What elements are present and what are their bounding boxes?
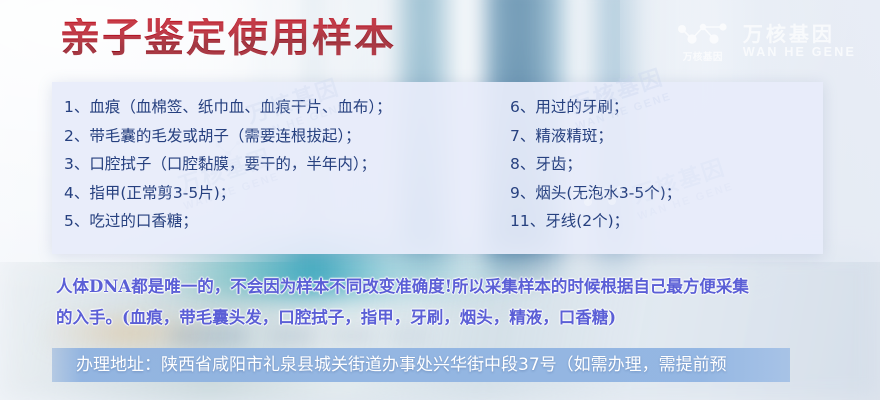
- sample-list-left-column: 1、血痕（血棉签、纸巾血、血痕干片、血布）； 2、带毛囊的毛发或胡子（需要连根拔…: [52, 96, 496, 254]
- brand-mark: 万核基因: [675, 20, 731, 63]
- brand-text: 万核基因 WAN HE GENE: [743, 23, 856, 60]
- address-bar: 办理地址：陕西省咸阳市礼泉县城关街道办事处兴华街中段37号（如需办理，需提前预: [0, 348, 880, 388]
- list-item: 2、带毛囊的毛发或胡子（需要连根拔起）；: [64, 125, 496, 149]
- list-item: 4、指甲(正常剪3-5片)；: [64, 182, 496, 206]
- page-title: 亲子鉴定使用样本: [60, 18, 396, 58]
- brand-name-cn: 万核基因: [743, 23, 835, 45]
- dna-note-line-2: 的入手。(血痕，带毛囊头发，口腔拭子，指甲，牙刷，烟头，精液，口香糖): [56, 303, 856, 334]
- sample-list-inner: 1、血痕（血棉签、纸巾血、血痕干片、血布）； 2、带毛囊的毛发或胡子（需要连根拔…: [52, 82, 823, 254]
- list-item: 9、烟头(无泡水3-5个)；: [510, 182, 823, 206]
- sample-list-panel: 1、血痕（血棉签、纸巾血、血痕干片、血布）； 2、带毛囊的毛发或胡子（需要连根拔…: [52, 82, 823, 254]
- brand-logo: 万核基因 万核基因 WAN HE GENE: [675, 20, 856, 63]
- list-item: 8、牙齿；: [510, 153, 823, 177]
- list-item: 3、口腔拭子（口腔黏膜，要干的，半年内）；: [64, 153, 496, 177]
- molecule-network-icon: [675, 20, 731, 46]
- list-item: 7、精液精斑；: [510, 125, 823, 149]
- parentage-test-sample-poster: 亲子鉴定使用样本: [0, 0, 880, 400]
- list-item: 6、用过的牙刷；: [510, 96, 823, 120]
- sample-list-right-column: 6、用过的牙刷； 7、精液精斑； 8、牙齿； 9、烟头(无泡水3-5个)； 11…: [496, 96, 823, 254]
- dna-note: 人体DNA都是唯一的，不会因为样本不同改变准确度!所以采集样本的时候根据自己最方…: [56, 272, 856, 333]
- list-item: 1、血痕（血棉签、纸巾血、血痕干片、血布）；: [64, 96, 496, 120]
- dna-note-line-1: 人体DNA都是唯一的，不会因为样本不同改变准确度!所以采集样本的时候根据自己最方…: [56, 272, 856, 303]
- list-item: 11、牙线(2个)；: [510, 210, 823, 234]
- brand-name-en: WAN HE GENE: [743, 46, 856, 60]
- address-text: 办理地址：陕西省咸阳市礼泉县城关街道办事处兴华街中段37号（如需办理，需提前预: [76, 352, 880, 378]
- brand-mark-label: 万核基因: [683, 49, 723, 63]
- list-item: 5、吃过的口香糖；: [64, 210, 496, 234]
